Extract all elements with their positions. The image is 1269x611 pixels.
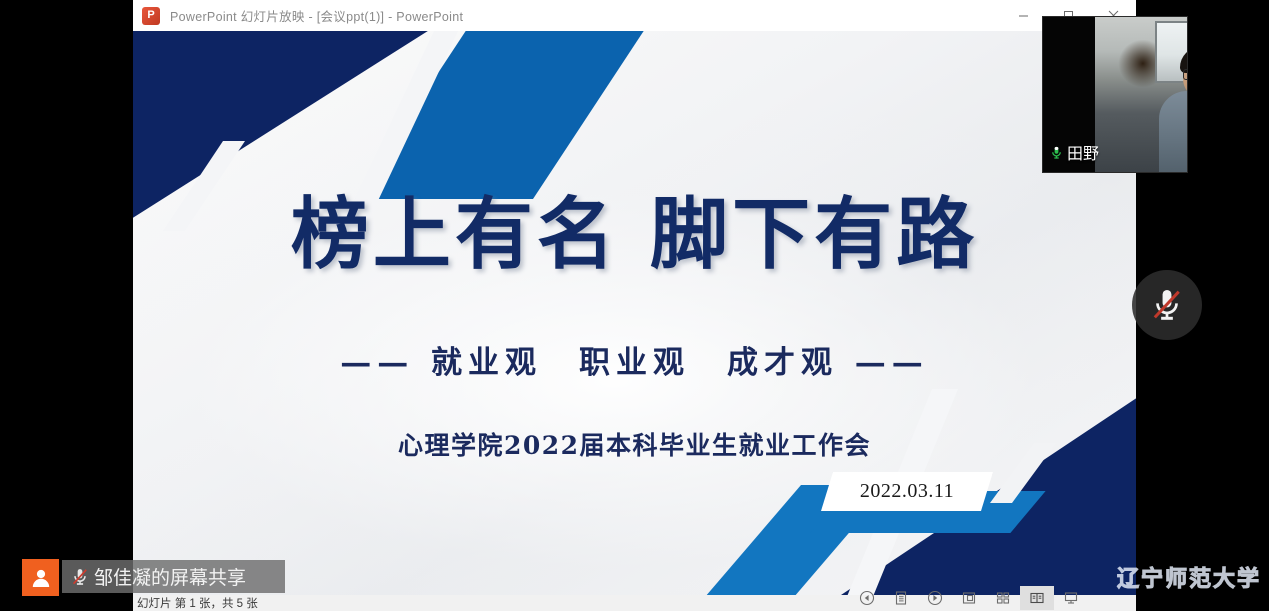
- participant-name: 田野: [1067, 140, 1099, 164]
- display-settings-button[interactable]: [1054, 586, 1088, 610]
- slide-canvas[interactable]: 榜上有名 脚下有路 —— 就业观 职业观 成才观 —— 心理学院2022届本科毕…: [133, 31, 1136, 595]
- video-person-collar: [1187, 91, 1188, 107]
- slide-date-text: 2022.03.11: [860, 480, 954, 503]
- video-person-glasses: [1183, 69, 1188, 78]
- slide-counter: 幻灯片 第 1 张，共 5 张: [137, 595, 258, 611]
- participant-video-tile[interactable]: 田野: [1042, 16, 1188, 173]
- video-name-label: 田野: [1049, 140, 1099, 164]
- screen-share-label: 邹佳凝的屏幕共享: [62, 560, 285, 593]
- slide-subtitle: —— 就业观 职业观 成才观 ——: [133, 337, 1136, 382]
- zoom-slide-button[interactable]: [952, 586, 986, 610]
- previous-slide-button[interactable]: [850, 586, 884, 610]
- next-slide-button[interactable]: [918, 586, 952, 610]
- slide-date-ribbon: 2022.03.11: [821, 472, 993, 511]
- window-titlebar[interactable]: P PowerPoint 幻灯片放映 - [会议ppt(1)] - PowerP…: [133, 0, 1136, 32]
- minimize-icon[interactable]: [1001, 0, 1046, 31]
- presenter-view-button[interactable]: [1020, 586, 1054, 610]
- video-feed-image: [1095, 17, 1187, 172]
- window-title: PowerPoint 幻灯片放映 - [会议ppt(1)] - PowerPoi…: [170, 6, 463, 25]
- slideshow-toolbar[interactable]: [850, 585, 1088, 611]
- university-watermark: 辽宁师范大学: [1117, 561, 1261, 593]
- screen-share-text: 邹佳凝的屏幕共享: [94, 563, 246, 590]
- mute-toggle-button[interactable]: [1132, 270, 1202, 340]
- slide-caption: 心理学院2022届本科毕业生就业工作会: [133, 426, 1136, 462]
- microphone-green-icon: [1049, 145, 1064, 160]
- powerpoint-window: P PowerPoint 幻灯片放映 - [会议ppt(1)] - PowerP…: [133, 0, 1136, 611]
- pen-tools-button[interactable]: [884, 586, 918, 610]
- screen-root: P PowerPoint 幻灯片放映 - [会议ppt(1)] - PowerP…: [0, 0, 1269, 611]
- person-avatar-icon: [22, 559, 59, 596]
- microphone-muted-icon: [70, 567, 90, 587]
- slide-main-title: 榜上有名 脚下有路: [133, 196, 1136, 274]
- all-slides-button[interactable]: [986, 586, 1020, 610]
- video-person-body: [1159, 91, 1188, 173]
- powerpoint-icon: P: [142, 7, 160, 25]
- microphone-muted-icon: [1148, 286, 1186, 324]
